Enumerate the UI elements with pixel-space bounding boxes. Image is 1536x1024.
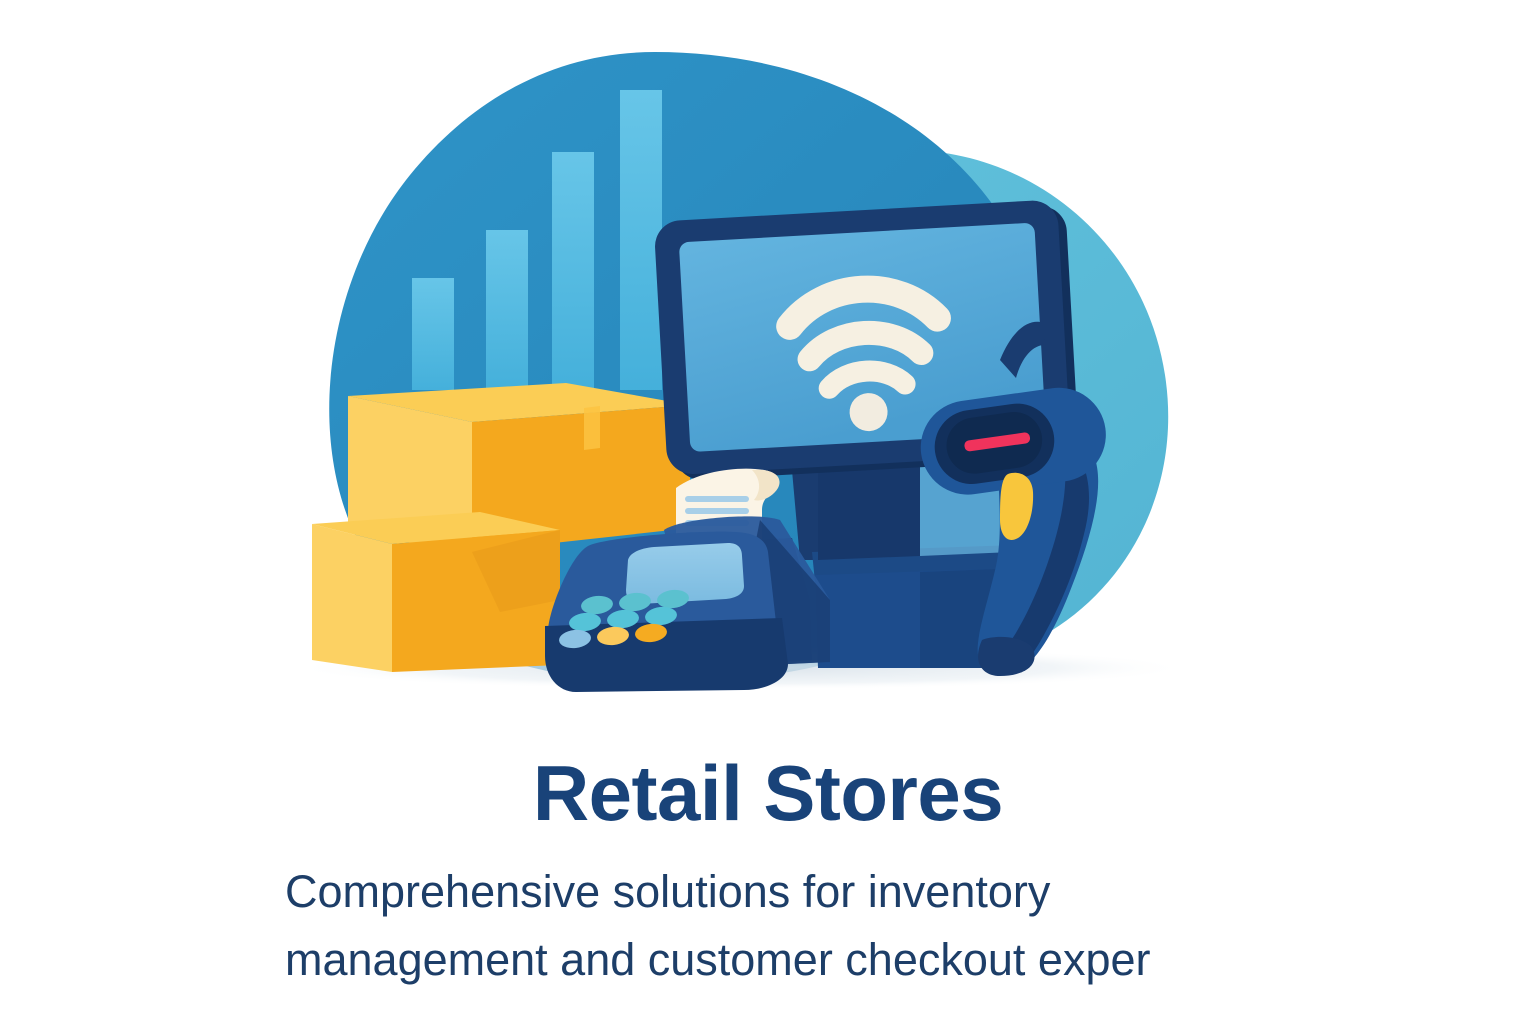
retail-illustration [0,0,1536,720]
receipt-line-1 [685,496,749,502]
box-lower [312,512,560,672]
chart-bar-1 [412,278,454,390]
illustration-card: Retail Stores Comprehensive solutions fo… [0,0,1536,1024]
page-title: Retail Stores [0,726,1536,832]
page-subtitle: Comprehensive solutions for inventory ma… [285,858,1295,995]
pos-base-left-panel [818,466,920,560]
box-upper-tape [584,406,600,450]
chart-bar-2 [486,230,528,390]
chart-bar-4 [620,90,662,390]
box-lower-front [312,524,392,672]
text-block: Retail Stores Comprehensive solutions fo… [0,726,1536,995]
chart-bar-3 [552,152,594,390]
receipt-line-2 [685,508,749,514]
